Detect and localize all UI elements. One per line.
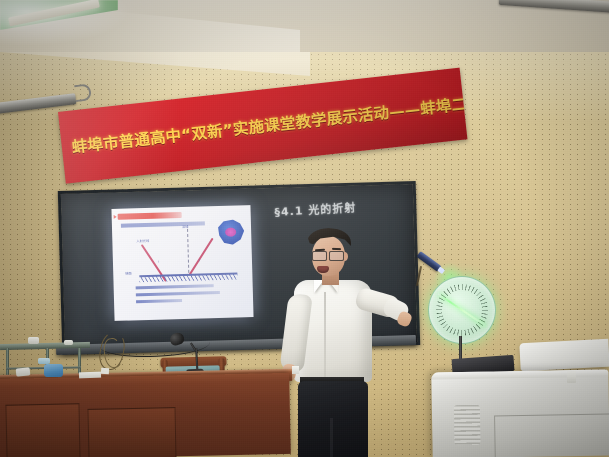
teacher-trousers [298,381,368,457]
label-normal: 法线 [182,224,189,229]
table-item-white [64,340,73,345]
podium-front-panel [87,407,176,457]
protractor-disc [428,276,496,344]
paper-sheet [79,372,101,379]
label-angle-incidence: i [158,260,159,264]
apparatus-support-rod [416,266,422,286]
label-mirror-surface: 镜面 [125,270,132,275]
reflected-ray [188,238,213,276]
cabinet-top-white-unit [519,339,609,372]
slide-bullet-1 [136,284,214,289]
cabinet-vent-grille [454,405,481,445]
slide-subtitle-line [121,221,205,227]
eyeglasses [312,251,344,260]
white-item [16,367,31,376]
teal-item [38,358,50,364]
label-incident-ray: 入射光线 [136,238,149,243]
label-angle-reflection: r [199,259,200,263]
classroom-photo: 蚌埠市普通高中“双新”实施课堂教学展示活动——蚌埠二中专场展示周 §4.1 光的… [0,0,609,457]
teacher-mouth [317,266,329,273]
projection-screen: 法线 入射光线 反射光线 i r 镜面 [111,205,253,321]
podium-front-panel [5,403,80,457]
slide-title-bar [118,212,182,220]
presenting-teacher [272,222,408,457]
wall-upper-bevel [0,52,310,94]
equipment-cabinet [431,369,609,457]
slide-bullet-2 [136,291,220,296]
slide-bullet-3 [136,299,182,303]
shirt-button-placket [324,292,326,378]
blob-inner-dot [225,227,236,236]
cabinet-panel-seam [494,413,609,457]
blue-container [44,364,63,377]
wall-mounted-box [292,366,299,374]
normal-line [187,229,189,273]
decorative-blob-graphic [218,219,245,245]
mirror-surface-hatching [139,273,237,282]
trouser-leg-seam [330,418,333,457]
wall-mounted-box [567,371,576,383]
table-item-white [28,337,39,344]
paper-sheet [101,368,109,375]
